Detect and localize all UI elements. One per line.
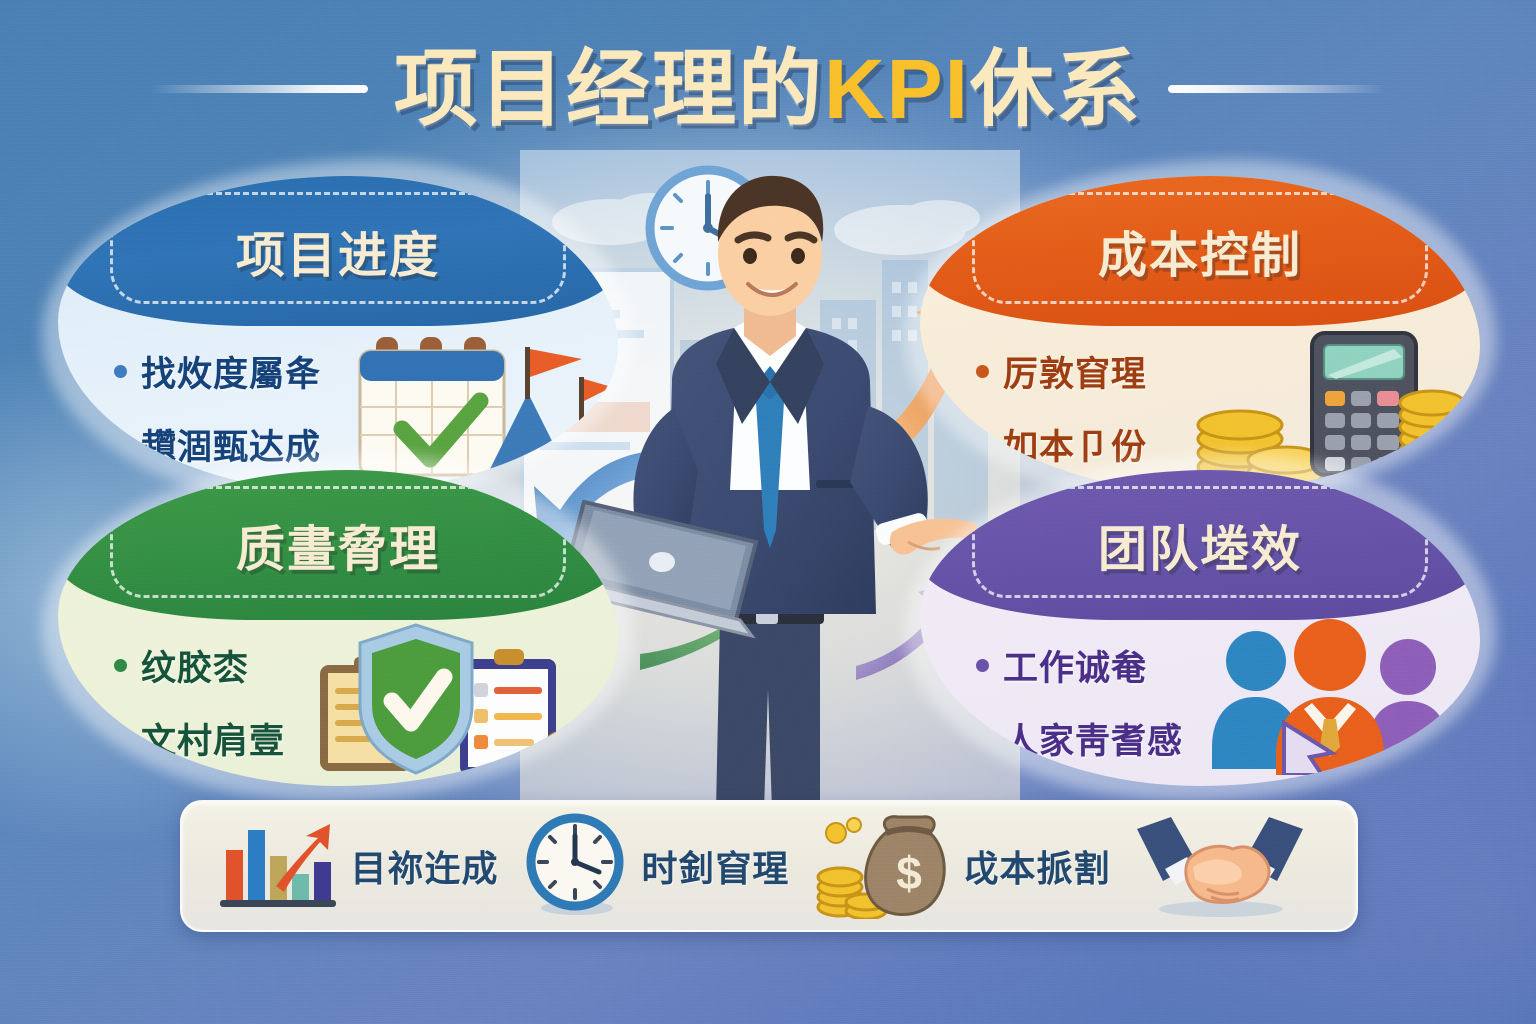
bullet-text: 人家靑耆感 [1003, 713, 1183, 764]
clipboard-right-icon [460, 649, 556, 775]
summary-label: 戉本挀割 [962, 840, 1110, 892]
card-cost[interactable]: 成本控制 厉敦窅瑆 如本卩份 [920, 176, 1480, 492]
title-prefix: 项目经理的 [394, 42, 824, 136]
bar-chart-growth-icon [218, 816, 336, 917]
shield-check-clipboard-icon [314, 619, 594, 784]
card-heading: 团队堘效 [1098, 510, 1302, 581]
infographic-poster: 项目经理的KPI休系 [0, 0, 1536, 1024]
svg-text:$: $ [897, 847, 923, 899]
list-item: 纹胶枩 [114, 640, 285, 691]
title-rule-left-icon [150, 85, 368, 93]
summary-item-goal[interactable]: 目祢迕成 [218, 816, 498, 917]
summary-label: 目祢迕成 [350, 840, 498, 892]
card-heading: 成本控制 [1098, 216, 1302, 287]
money-bag-coins-icon: $ [814, 809, 948, 924]
bullet-text: 厉敦窅瑆 [1003, 346, 1147, 397]
title-kpi: KPI [824, 42, 970, 136]
list-item: 如本卩份 [976, 419, 1147, 470]
bullet-dot-icon [114, 659, 127, 672]
summary-item-time[interactable]: 时釗窅瑆 [523, 812, 789, 921]
bullet-text: 工作诚奙 [1003, 640, 1147, 691]
card-heading: 项目进度 [236, 216, 440, 287]
bullet-text: 纹胶枩 [141, 640, 249, 691]
bullet-dot-icon [114, 438, 127, 451]
title-suffix: 休系 [970, 42, 1142, 136]
clock-icon [523, 812, 627, 921]
summary-bar: 目祢迕成 时釗窅瑆 [180, 800, 1358, 932]
list-item: 人家靑耆感 [976, 713, 1183, 764]
card-bullets: 纹胶枩 文村肩壹 [114, 640, 285, 764]
handshake-icon [1135, 811, 1305, 922]
list-item: 工作诚奙 [976, 640, 1183, 691]
card-header-progress: 项目进度 [58, 176, 618, 326]
coin-stack-icon [548, 731, 592, 776]
list-item: 文村肩壹 [114, 713, 285, 764]
summary-item-handshake[interactable] [1135, 811, 1319, 922]
card-header-team: 团队堘效 [920, 470, 1480, 620]
bullet-text: 文村肩壹 [141, 713, 285, 764]
title-rule-right-icon [1168, 85, 1386, 93]
bullet-dot-icon [976, 365, 989, 378]
list-item: 厉敦窅瑆 [976, 346, 1147, 397]
card-heading: 质畫脅理 [236, 510, 440, 581]
card-progress[interactable]: 项目进度 找炇度屬夅 趲涸甄达成 [58, 176, 618, 492]
list-item: 找炇度屬夅 [114, 346, 321, 397]
bullet-text: 如本卩份 [1003, 419, 1147, 470]
bullet-dot-icon [976, 438, 989, 451]
card-bullets: 工作诚奙 人家靑耆感 [976, 640, 1183, 764]
bullet-dot-icon [976, 659, 989, 672]
bullet-dot-icon [114, 732, 127, 745]
bullet-dot-icon [114, 365, 127, 378]
summary-label: 时釗窅瑆 [641, 840, 789, 892]
bullet-text: 找炇度屬夅 [141, 346, 321, 397]
card-header-cost: 成本控制 [920, 176, 1480, 326]
card-quality[interactable]: 质畫脅理 纹胶枩 文村肩壹 [58, 470, 618, 786]
page-title: 项目经理的KPI休系 [394, 47, 1142, 131]
card-team[interactable]: 团队堘效 工作诚奙 人家靑耆感 [920, 470, 1480, 786]
card-bullets: 找炇度屬夅 趲涸甄达成 [114, 346, 321, 470]
card-header-quality: 质畫脅理 [58, 470, 618, 620]
summary-item-cost[interactable]: $ 戉本挀割 [814, 809, 1110, 924]
card-bullets: 厉敦窅瑆 如本卩份 [976, 346, 1147, 470]
bullet-dot-icon [976, 732, 989, 745]
three-people-arrow-icon [1212, 617, 1448, 780]
coin-stack-right-icon [1400, 391, 1464, 475]
title-bar: 项目经理的KPI休系 [0, 34, 1536, 144]
